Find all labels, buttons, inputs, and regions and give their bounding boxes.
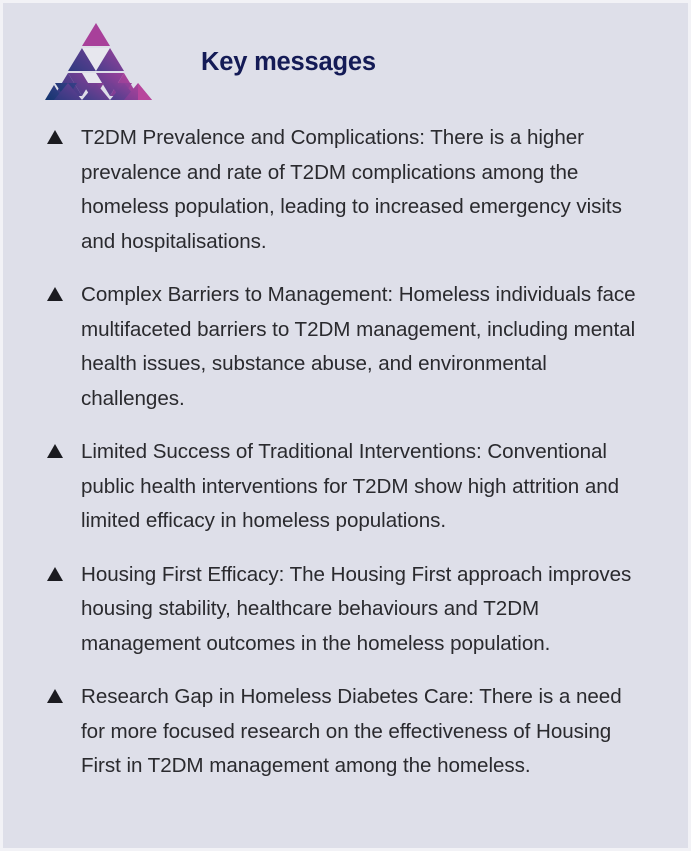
- triangle-up-icon: [47, 567, 63, 581]
- triangle-up-icon: [47, 444, 63, 458]
- list-item: Limited Success of Traditional Intervent…: [47, 435, 670, 539]
- list-item: T2DM Prevalence and Complications: There…: [47, 121, 670, 259]
- triangle-up-icon: [47, 287, 63, 301]
- list-item-text: Limited Success of Traditional Intervent…: [81, 435, 651, 539]
- list-item: Complex Barriers to Management: Homeless…: [47, 278, 670, 416]
- triangle-up-icon: [47, 130, 63, 144]
- triangle-up-icon: [47, 689, 63, 703]
- list-item: Research Gap in Homeless Diabetes Care: …: [47, 680, 670, 784]
- key-messages-panel: Key messages T2DM Prevalence and Complic…: [0, 0, 691, 851]
- list-item-text: Housing First Efficacy: The Housing Firs…: [81, 558, 651, 662]
- key-messages-list: T2DM Prevalence and Complications: There…: [3, 99, 688, 784]
- list-item: Housing First Efficacy: The Housing Firs…: [47, 558, 670, 662]
- list-item-text: Research Gap in Homeless Diabetes Care: …: [81, 680, 651, 784]
- list-item-text: Complex Barriers to Management: Homeless…: [81, 278, 651, 416]
- panel-header: Key messages: [3, 3, 688, 99]
- triangular-pyramid-logo: [33, 21, 159, 103]
- list-item-text: T2DM Prevalence and Complications: There…: [81, 121, 651, 259]
- page-title: Key messages: [201, 48, 376, 77]
